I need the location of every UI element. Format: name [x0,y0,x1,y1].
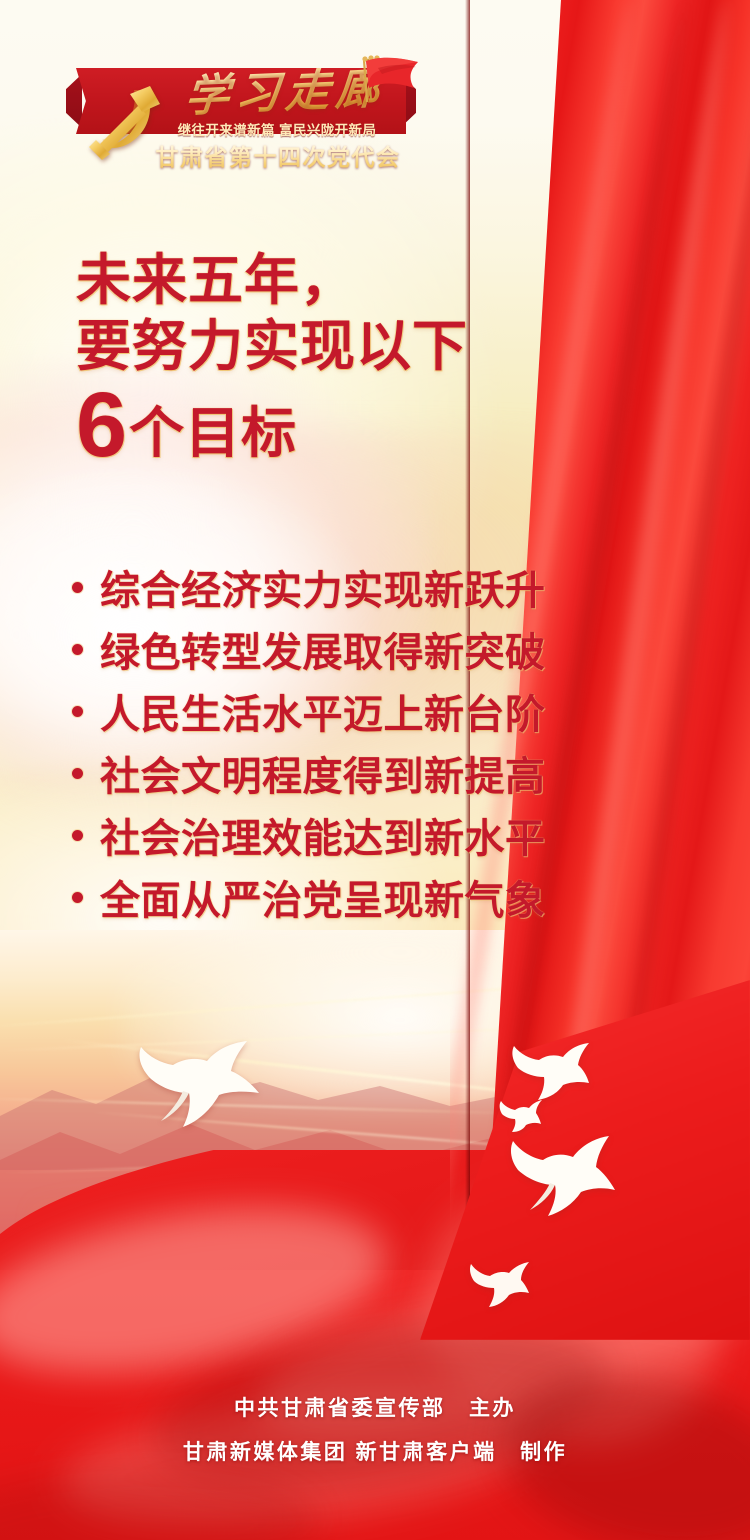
bullet-icon [72,644,83,655]
bullet-icon [72,768,83,779]
dove-icon [508,1130,618,1216]
goal-text: 绿色转型发展取得新突破 [100,620,546,678]
goal-text: 人民生活水平迈上新台阶 [100,682,546,740]
red-flag-icon [358,54,422,106]
dove-icon [498,1098,542,1132]
footer-credits: 中共甘肃省委宣传部 主办 甘肃新媒体集团 新甘肃客户端 制作 [0,1392,750,1466]
header-logo: 学习走廊 继往开来谱新篇 富民兴陇开新局 甘肃省第十四次党代会 [0,26,750,166]
list-item: 社会治理效能达到新水平 [72,804,672,866]
dove-icon [510,1040,590,1102]
poster-root: 学习走廊 继往开来谱新篇 富民兴陇开新局 甘肃省第十四次党代会 未来五年， 要努… [0,0,750,1540]
goal-text: 社会治理效能达到新水平 [100,806,546,864]
dove-icon [468,1260,530,1308]
headline-line-2: 要努力实现以下 [76,318,596,374]
banner-subtitle: 继往开来谱新篇 富民兴陇开新局 [152,119,402,139]
list-item: 全面从严治党呈现新气象 [72,866,672,928]
footer-line-2: 甘肃新媒体集团 新甘肃客户端 制作 [0,1436,750,1466]
goal-text: 全面从严治党呈现新气象 [100,868,546,926]
goal-count-suffix: 个目标 [129,405,297,461]
goal-text: 社会文明程度得到新提高 [100,744,546,802]
goal-count-number: 6 [76,384,127,467]
bullet-icon [72,892,83,903]
list-item: 人民生活水平迈上新台阶 [72,680,672,742]
goals-list: 综合经济实力实现新跃升 绿色转型发展取得新突破 人民生活水平迈上新台阶 社会文明… [72,556,672,928]
list-item: 综合经济实力实现新跃升 [72,556,672,618]
list-item: 社会文明程度得到新提高 [72,742,672,804]
dove-icon [135,1035,265,1135]
bullet-icon [72,706,83,717]
headline-line-3: 6 个目标 [76,378,596,461]
footer-line-1: 中共甘肃省委宣传部 主办 [0,1392,750,1422]
banner-title: 甘肃省第十四次党代会 [152,138,404,172]
list-item: 绿色转型发展取得新突破 [72,618,672,680]
headline-line-1: 未来五年， [76,252,596,308]
bullet-icon [72,830,83,841]
bullet-icon [72,582,83,593]
goal-text: 综合经济实力实现新跃升 [100,558,546,616]
page-title: 未来五年， 要努力实现以下 6 个目标 [76,252,596,461]
